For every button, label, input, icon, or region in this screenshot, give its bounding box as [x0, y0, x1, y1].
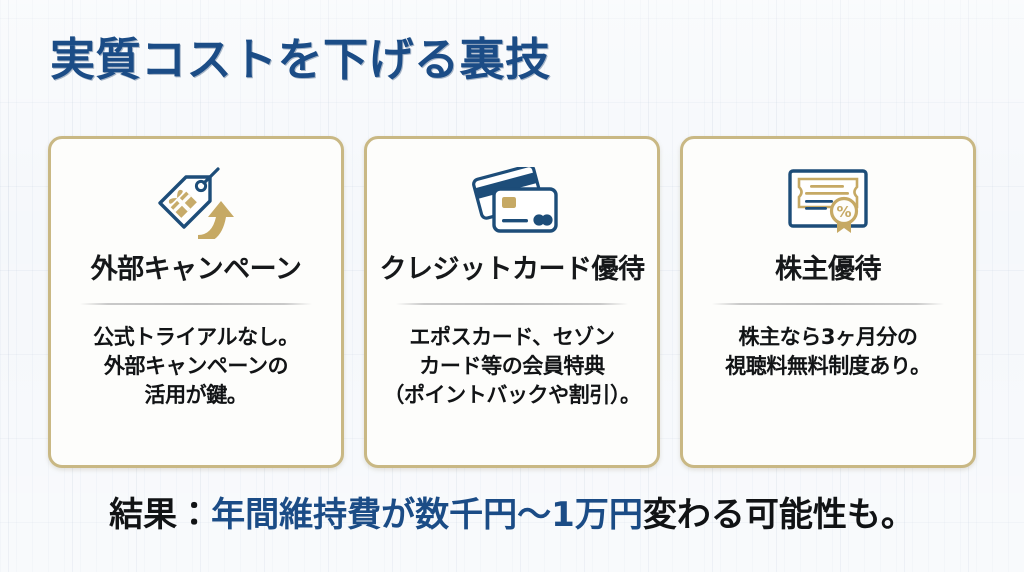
- credit-cards-icon: [462, 163, 562, 241]
- card-title: 外部キャンペーン: [91, 253, 302, 287]
- gift-tag-arrow-icon: [148, 163, 244, 241]
- card-body-line: 活用が鍵。: [93, 381, 299, 410]
- card-body-line: 公式トライアルなし。: [93, 323, 299, 352]
- card-body-line: 外部キャンペーンの: [93, 352, 299, 381]
- conclusion-prefix: 結果：: [109, 495, 211, 535]
- card-body-line: エポスカード、セゾン: [383, 323, 640, 352]
- card-divider: [80, 303, 312, 305]
- conclusion-highlight: 年間維持費が数千円〜1万円: [211, 495, 643, 535]
- card-row: 外部キャンペーン 公式トライアルなし。 外部キャンペーンの 活用が鍵。: [48, 136, 976, 468]
- conclusion-line: 結果：年間維持費が数千円〜1万円変わる可能性も。: [0, 492, 1024, 538]
- card-body: 公式トライアルなし。 外部キャンペーンの 活用が鍵。: [93, 323, 299, 410]
- page-title: 実質コストを下げる裏技: [50, 31, 551, 89]
- card-body: 株主なら3ヶ月分の 視聴料無料制度あり。: [725, 323, 931, 381]
- card-shareholder-benefits[interactable]: % 株主優待 株主なら3ヶ月分の 視聴料無料制度あり。: [680, 136, 976, 468]
- card-divider: [712, 303, 944, 305]
- conclusion-suffix: 変わる可能性も。: [643, 495, 915, 535]
- certificate-percent-icon: %: [780, 163, 876, 241]
- card-title: 株主優待: [775, 253, 881, 287]
- card-body-line: （ポイントバックや割引）。: [383, 381, 640, 410]
- card-external-campaign[interactable]: 外部キャンペーン 公式トライアルなし。 外部キャンペーンの 活用が鍵。: [48, 136, 344, 468]
- card-body-line: カード等の会員特典: [383, 352, 640, 381]
- card-credit-card-benefits[interactable]: クレジットカード優待 エポスカード、セゾン カード等の会員特典 （ポイントバック…: [364, 136, 660, 468]
- card-divider: [396, 303, 628, 305]
- slide-canvas: 実質コストを下げる裏技: [0, 0, 1024, 572]
- card-title: クレジットカード優待: [380, 253, 645, 287]
- card-body: エポスカード、セゾン カード等の会員特典 （ポイントバックや割引）。: [383, 323, 640, 410]
- svg-text:%: %: [836, 203, 851, 221]
- card-body-line: 株主なら3ヶ月分の: [725, 323, 931, 352]
- card-body-line: 視聴料無料制度あり。: [725, 352, 931, 381]
